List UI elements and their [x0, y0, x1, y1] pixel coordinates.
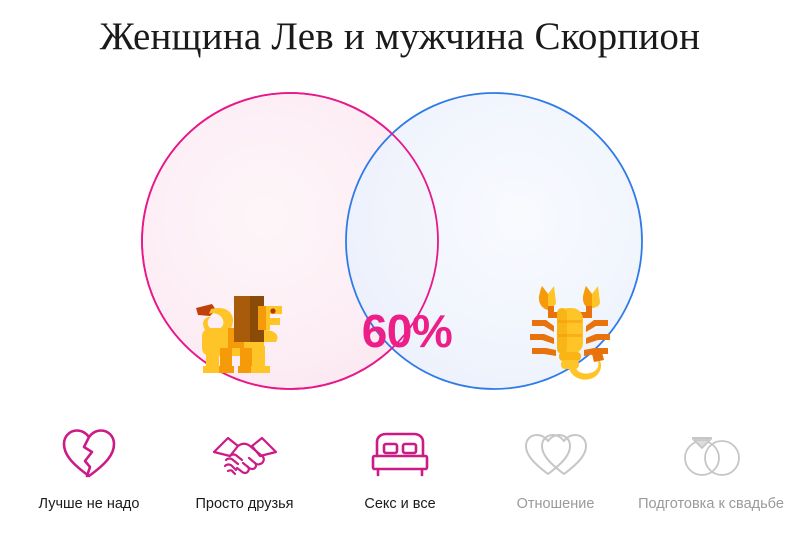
handshake-icon: [212, 425, 278, 483]
stage-label: Отношение: [517, 495, 595, 513]
stage-label: Секс и все: [364, 495, 435, 513]
stage-label: Лучше не надо: [39, 495, 140, 513]
compatibility-percent: 60%: [337, 304, 477, 358]
wedding-rings-icon: [675, 425, 747, 483]
stage-item-podgotovka-k-svadbe[interactable]: Подготовка к свадьбе: [636, 425, 786, 513]
stage-label: Просто друзья: [195, 495, 293, 513]
compatibility-venn-diagram: 60%: [0, 88, 800, 398]
broken-heart-icon: [61, 425, 117, 483]
stage-item-seks-i-vse[interactable]: Секс и все: [325, 425, 475, 513]
bed-icon: [369, 425, 431, 483]
two-hearts-icon: [523, 425, 589, 483]
page-title: Женщина Лев и мужчина Скорпион: [0, 12, 800, 62]
scorpion-icon: [524, 280, 616, 389]
stage-item-prosto-druzya[interactable]: Просто друзья: [170, 425, 320, 513]
stage-item-luchshe-ne-nado[interactable]: Лучше не надо: [14, 425, 164, 513]
lion-icon: [178, 284, 282, 385]
stage-item-otnoshenie[interactable]: Отношение: [481, 425, 631, 513]
relationship-stage-list: Лучше не надо Просто друзья: [0, 425, 800, 535]
stage-label: Подготовка к свадьбе: [638, 495, 784, 513]
